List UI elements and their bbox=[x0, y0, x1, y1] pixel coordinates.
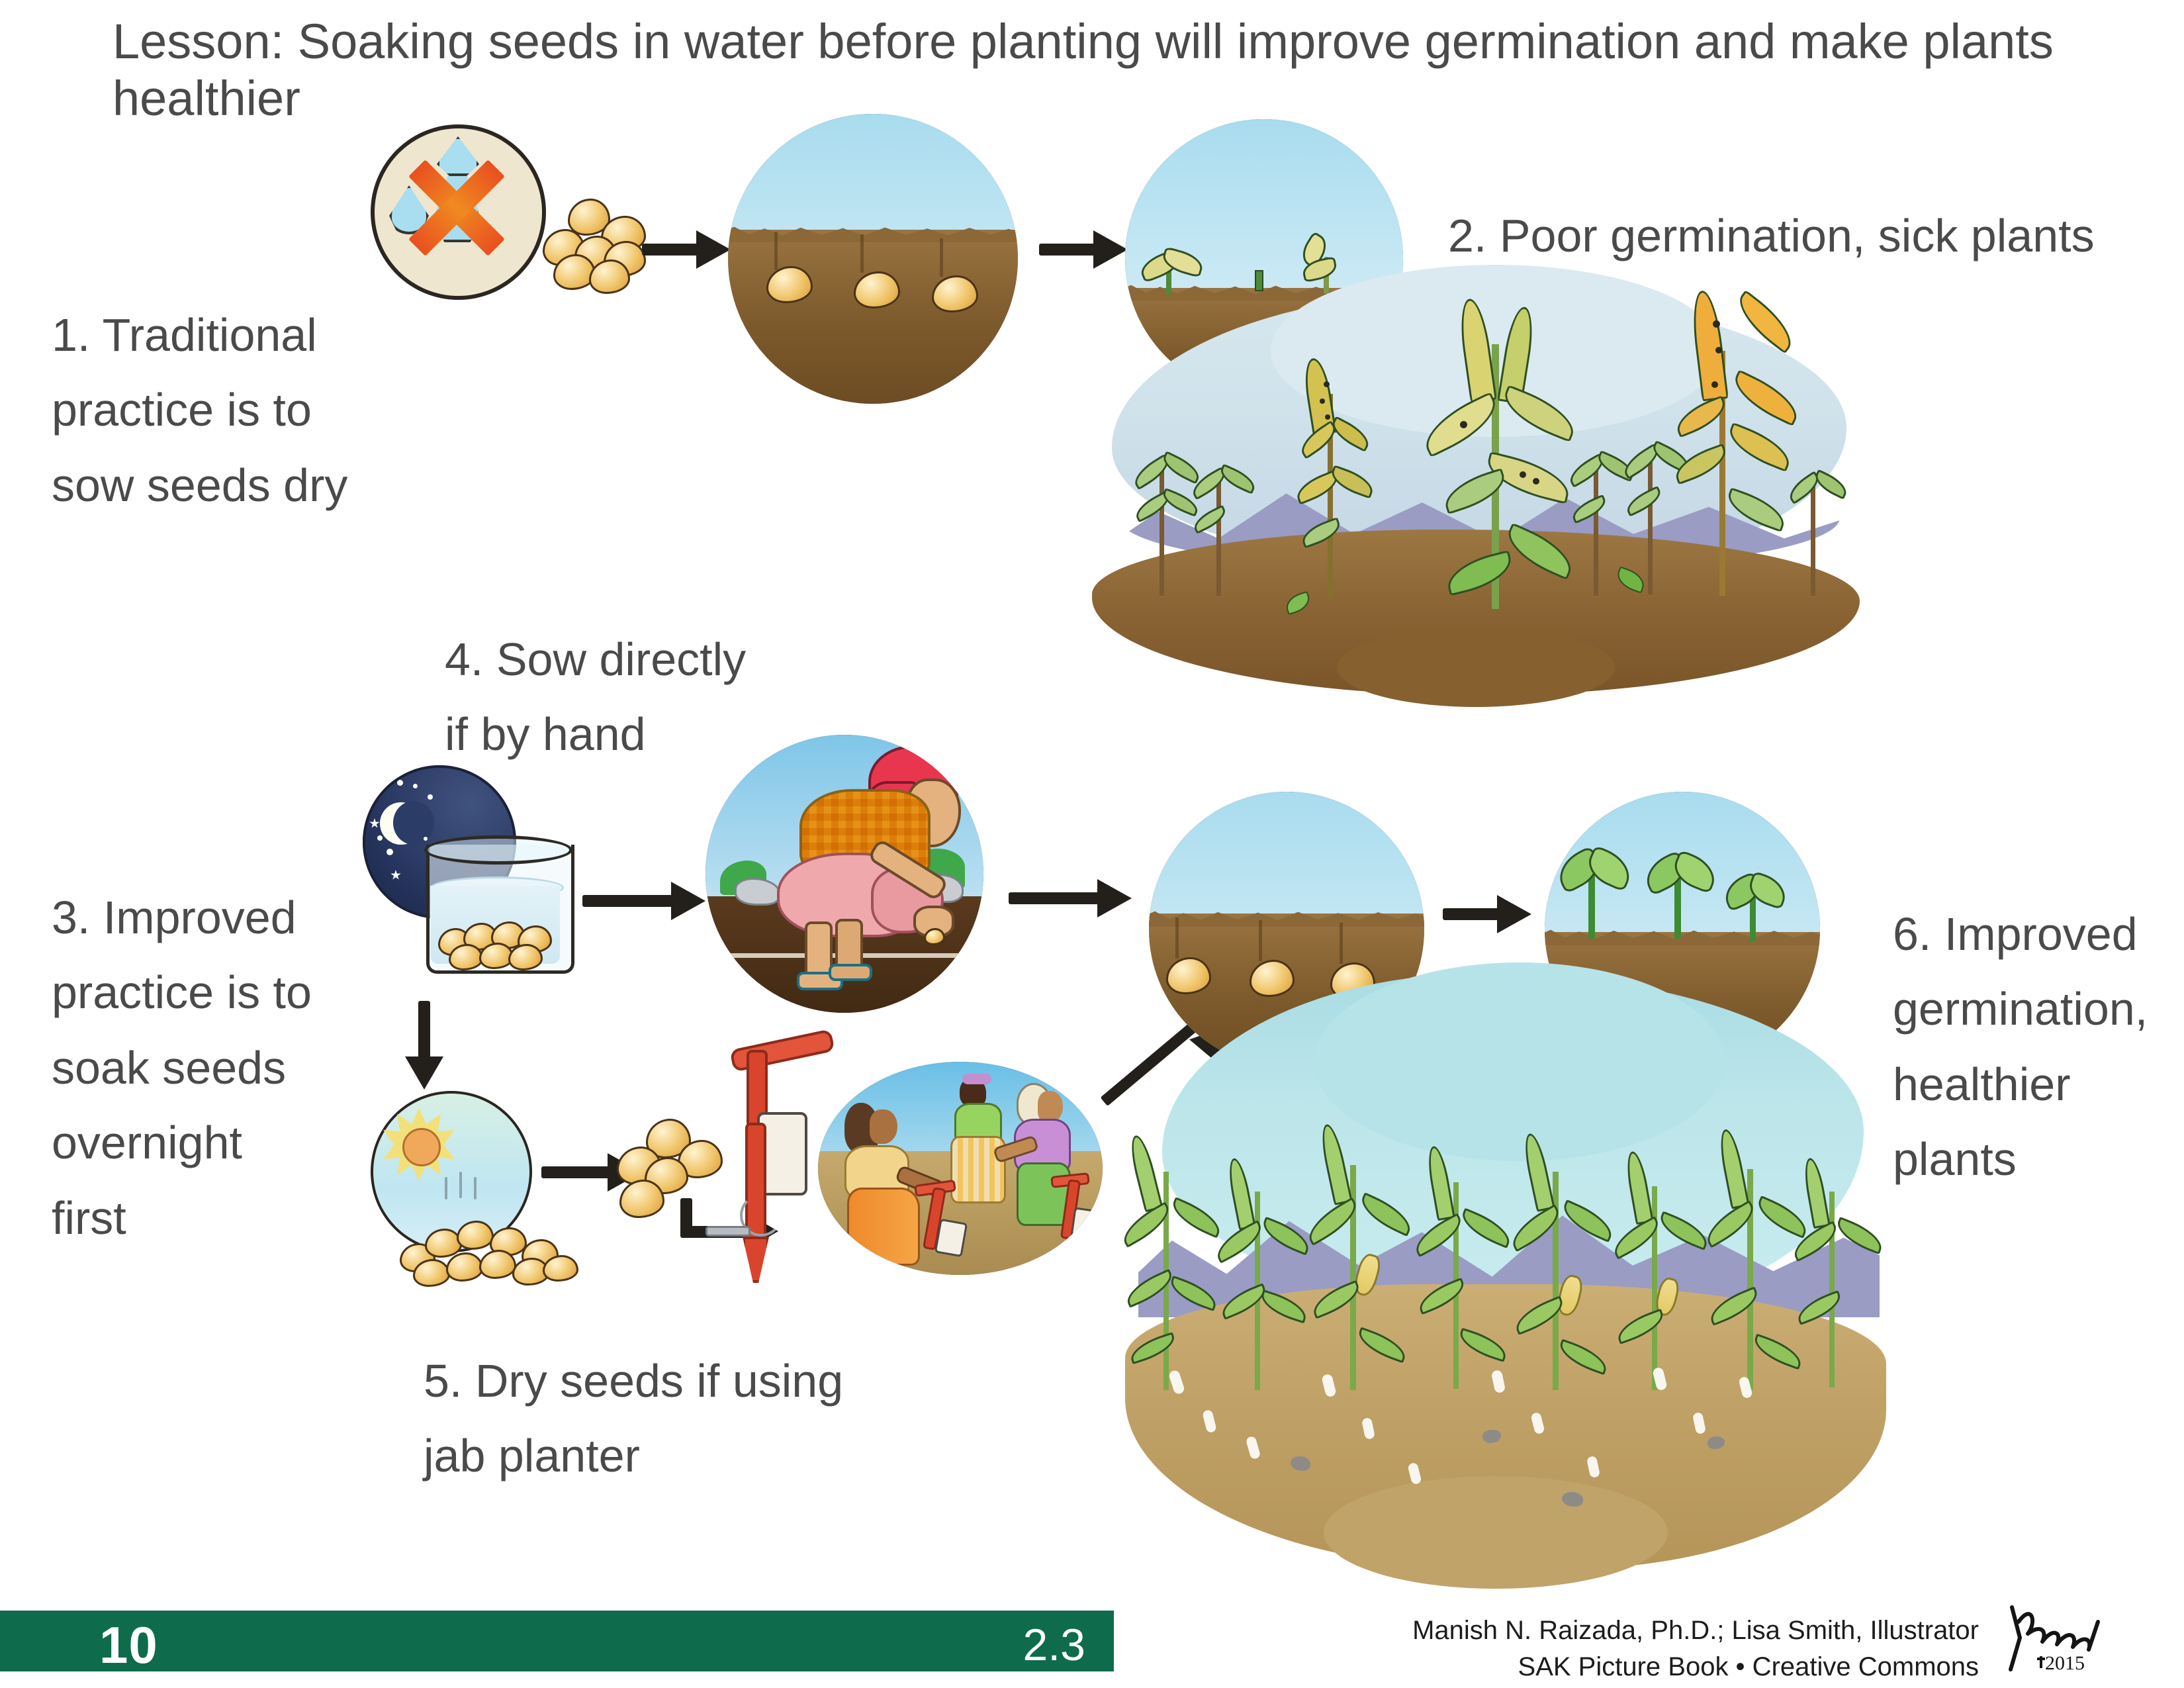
step-label-1: 1. Traditional practice is to sow seeds … bbox=[52, 298, 422, 523]
step-label-3: 3. Improved practice is to soak seeds ov… bbox=[52, 880, 422, 1256]
signature-icon: 2015 bbox=[1999, 1595, 2131, 1681]
illustration-dry-seeds bbox=[536, 199, 652, 291]
illustration-soil-dry-seeds bbox=[728, 114, 1018, 404]
x-mark-icon bbox=[400, 151, 513, 263]
page-title: Lesson: Soaking seeds in water before pl… bbox=[113, 13, 2138, 127]
credit-line-2: SAK Picture Book • Creative Commons bbox=[1317, 1649, 1979, 1685]
step-label-5: 5. Dry seeds if using jab planter bbox=[424, 1344, 913, 1494]
maize-cob bbox=[1555, 1273, 1585, 1318]
small-sprout bbox=[1283, 591, 1312, 615]
section-number: 2.3 bbox=[1006, 1619, 1085, 1671]
step-label-4: 4. Sow directly if by hand bbox=[445, 622, 829, 773]
star-icon bbox=[377, 835, 383, 841]
star-icon bbox=[369, 818, 380, 829]
star-icon bbox=[390, 870, 401, 880]
step-label-2: 2. Poor germination, sick plants bbox=[1448, 199, 2163, 273]
star-icon bbox=[397, 780, 403, 786]
signature-year: 2015 bbox=[2045, 1652, 2085, 1675]
star-icon bbox=[428, 794, 433, 800]
credit-line-1: Manish N. Raizada, Ph.D.; Lisa Smith, Il… bbox=[1317, 1613, 1979, 1649]
illustration-jab-planter-field bbox=[818, 1062, 1103, 1275]
drying-seed-pile bbox=[393, 1215, 592, 1288]
illustration-sick-field bbox=[1052, 265, 1893, 722]
illustration-hand-sowing bbox=[705, 735, 983, 1013]
star-icon bbox=[413, 784, 418, 788]
credits: Manish N. Raizada, Ph.D.; Lisa Smith, Il… bbox=[1317, 1613, 1979, 1685]
footer-bar bbox=[0, 1611, 1114, 1671]
page-number: 10 bbox=[99, 1615, 158, 1675]
star-icon bbox=[387, 849, 393, 855]
small-sprout bbox=[1614, 566, 1648, 593]
glass-of-water bbox=[426, 835, 568, 980]
step-label-6: 6. Improved germination, healthier plant… bbox=[1893, 897, 2177, 1197]
illustration-healthy-field bbox=[1125, 973, 1893, 1589]
